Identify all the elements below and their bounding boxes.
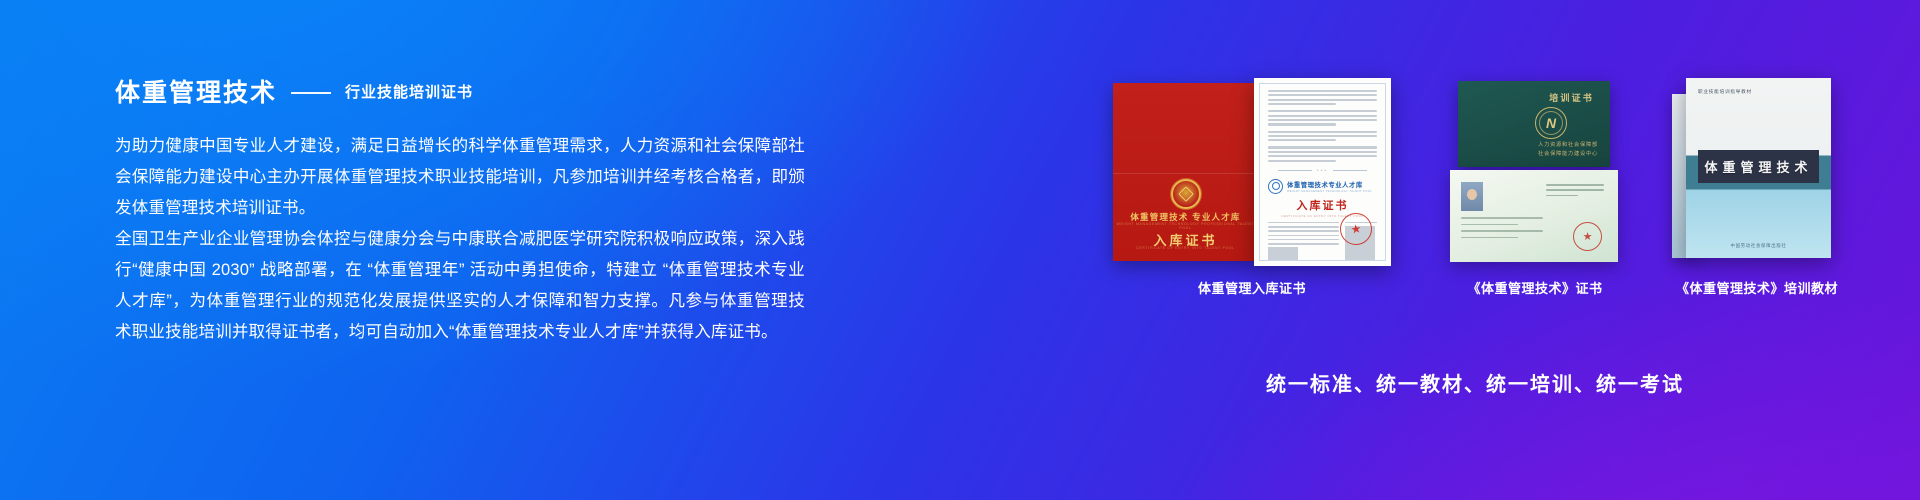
hero-paragraph-1: 为助力健康中国专业人才建设，满足日益增长的科学体重管理需求，人力资源和社会保障部… [115, 131, 805, 224]
showcase-caption: 《体重管理技术》证书 [1467, 278, 1602, 297]
inner-page-org-block: 体重管理技术专业人才库 WEIGHT MANAGEMENT TECHNOLOGY… [1287, 180, 1372, 193]
gold-emblem-icon [1171, 179, 1201, 209]
text-line [1268, 155, 1377, 157]
showcase-caption: 《体重管理技术》培训教材 [1676, 278, 1838, 297]
showcase-item-training-certificate[interactable]: 培训证书 N 人力资源和社会保障部 社会保障能力建设中心 [1450, 78, 1620, 263]
text-line [1268, 160, 1336, 162]
page-subtitle: 行业技能培训证书 [345, 76, 473, 110]
paragraph-block-en-1 [1268, 110, 1377, 125]
showcase-caption: 体重管理入库证书 [1198, 278, 1306, 297]
text-line [1268, 239, 1339, 241]
signature-placeholder [1268, 247, 1298, 261]
divider-dots-icon: ••• [1317, 168, 1328, 174]
cover-title-sub: CERTIFICATE OF ENTRY INTO TALENT POOL [1113, 246, 1258, 250]
book-title: 体重管理技术 [1704, 157, 1812, 176]
text-line [1546, 195, 1578, 197]
text-line [1268, 151, 1377, 153]
text-line [1461, 224, 1518, 226]
text-line [1268, 222, 1339, 224]
text-line [1268, 131, 1377, 133]
showcase-item-training-textbook[interactable]: 职业技能培训指导教材 体重管理技术 中国劳动社会保障出版社 《体重管理技术》培训… [1672, 78, 1842, 263]
green-cover-issuer-line-1: 人力资源和社会保障部 [1538, 141, 1598, 148]
text-line [1268, 90, 1377, 92]
green-certificate-cover: 培训证书 N 人力资源和社会保障部 社会保障能力建设中心 [1458, 81, 1610, 167]
cover-org-name-sub: WEIGHT MANAGEMENT TECHNOLOGY PROFESSIONA… [1113, 222, 1258, 230]
inner-page-org-name-sub: WEIGHT MANAGEMENT TECHNOLOGY TALENT POOL [1287, 190, 1372, 193]
inner-page-title: 入库证书 [1268, 197, 1377, 213]
title-divider-rule [291, 92, 331, 94]
inner-page-frame: ••• 体重管理技术专业人才库 WEIGHT MANAGEMENT TECHNO… [1259, 83, 1386, 261]
cover-fold-line [1113, 173, 1258, 174]
text-line [1268, 119, 1377, 121]
paragraph-block-en-2 [1268, 146, 1377, 161]
showcase-item-talent-pool-certificate[interactable]: 体重管理技术 专业人才库 WEIGHT MANAGEMENT TECHNOLOG… [1113, 78, 1391, 263]
text-line [1268, 146, 1377, 148]
paragraph-block-cn-1 [1268, 90, 1377, 105]
green-certificate-inner-page: ★ [1450, 170, 1618, 262]
text-line [1546, 184, 1604, 186]
national-emblem-badge-icon: N [1535, 107, 1567, 139]
text-line [1461, 230, 1543, 232]
showcase-tagline: 统一标准、统一教材、统一培训、统一考试 [1080, 368, 1870, 397]
divider-line-right [1333, 170, 1367, 171]
inner-page-header: 体重管理技术专业人才库 WEIGHT MANAGEMENT TECHNOLOGY… [1268, 179, 1377, 194]
holder-portrait-photo [1461, 182, 1483, 211]
inner-page-org-name: 体重管理技术专业人才库 [1287, 180, 1372, 189]
certificate-inner-page: ••• 体重管理技术专业人才库 WEIGHT MANAGEMENT TECHNO… [1254, 78, 1391, 266]
book-front-cover: 职业技能培训指导教材 体重管理技术 中国劳动社会保障出版社 [1686, 78, 1831, 258]
certificate-field-lines [1461, 217, 1543, 243]
text-line [1268, 235, 1339, 237]
certificate-showcase: 体重管理技术 专业人才库 WEIGHT MANAGEMENT TECHNOLOG… [1080, 78, 1870, 408]
circular-seal-icon [1268, 179, 1283, 194]
section-divider: ••• [1268, 168, 1377, 174]
text-line [1268, 226, 1339, 228]
book-series-label: 职业技能培训指导教材 [1698, 89, 1752, 95]
paragraph-block-cn-2 [1268, 131, 1377, 142]
hero-banner: 体重管理技术 行业技能培训证书 为助力健康中国专业人才建设，满足日益增长的科学体… [0, 0, 1920, 500]
text-line [1546, 189, 1604, 191]
hero-body: 为助力健康中国专业人才建设，满足日益增长的科学体重管理需求，人力资源和社会保障部… [115, 131, 805, 348]
text-line [1268, 99, 1377, 101]
text-line [1268, 123, 1336, 125]
page-title: 体重管理技术 [115, 76, 277, 110]
hero-paragraph-2: 全国卫生产业企业管理协会体控与健康分会与中康联合减肥医学研究院积极响应政策，深入… [115, 224, 805, 348]
divider-line-left [1278, 170, 1312, 171]
red-official-stamp-icon: ★ [1573, 222, 1602, 251]
showcase-row: 体重管理技术 专业人才库 WEIGHT MANAGEMENT TECHNOLOG… [1080, 78, 1870, 274]
text-line [1268, 243, 1339, 245]
text-line [1268, 103, 1336, 105]
title-row: 体重管理技术 行业技能培训证书 [115, 76, 805, 110]
text-line [1268, 115, 1377, 117]
green-cover-issuer-line-2: 社会保障能力建设中心 [1538, 150, 1598, 157]
text-line [1461, 217, 1543, 219]
hero-text-column: 体重管理技术 行业技能培训证书 为助力健康中国专业人才建设，满足日益增长的科学体… [115, 76, 805, 348]
text-line [1268, 139, 1336, 141]
text-line [1268, 110, 1377, 112]
text-line [1268, 135, 1377, 137]
text-line [1268, 94, 1377, 96]
inner-page-detail-lines [1268, 222, 1339, 261]
book-title-band: 体重管理技术 [1698, 150, 1819, 183]
red-certificate-cover: 体重管理技术 专业人才库 WEIGHT MANAGEMENT TECHNOLOG… [1113, 83, 1258, 261]
green-cover-title: 培训证书 [1549, 91, 1594, 104]
text-line [1461, 237, 1518, 239]
certificate-statement-lines [1546, 184, 1604, 200]
text-line [1268, 230, 1339, 232]
book-publisher-label: 中国劳动社会保障出版社 [1686, 243, 1831, 249]
